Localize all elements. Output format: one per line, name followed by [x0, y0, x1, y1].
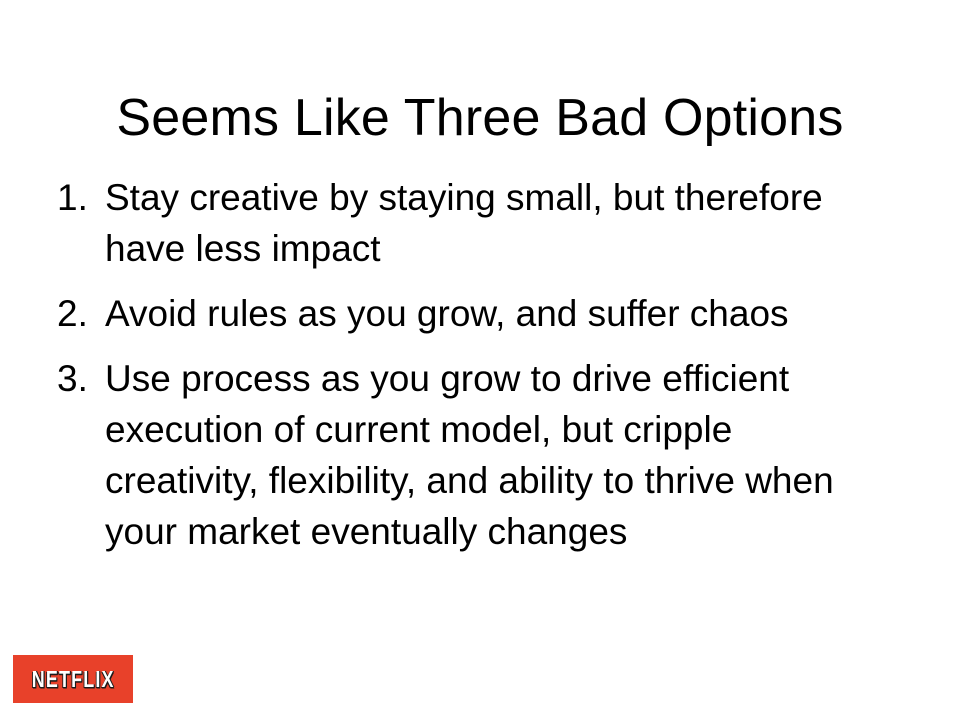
- page-title: Seems Like Three Bad Options: [0, 89, 960, 147]
- slide-canvas: Seems Like Three Bad Options 1. Stay cre…: [0, 0, 960, 720]
- list-item-number: 2.: [50, 288, 105, 339]
- list-item-number: 1.: [50, 172, 105, 223]
- netflix-wordmark-text: NETFLIX: [32, 668, 115, 691]
- list-item: 1. Stay creative by staying small, but t…: [50, 172, 910, 274]
- list-item: 2. Avoid rules as you grow, and suffer c…: [50, 288, 910, 339]
- list-item-text: Avoid rules as you grow, and suffer chao…: [105, 288, 867, 339]
- numbered-list: 1. Stay creative by staying small, but t…: [50, 172, 910, 557]
- list-item: 3. Use process as you grow to drive effi…: [50, 353, 910, 557]
- list-item-text: Use process as you grow to drive efficie…: [105, 353, 867, 557]
- netflix-logo: NETFLIX: [13, 655, 133, 703]
- list-item-text: Stay creative by staying small, but ther…: [105, 172, 867, 274]
- list-item-number: 3.: [50, 353, 105, 404]
